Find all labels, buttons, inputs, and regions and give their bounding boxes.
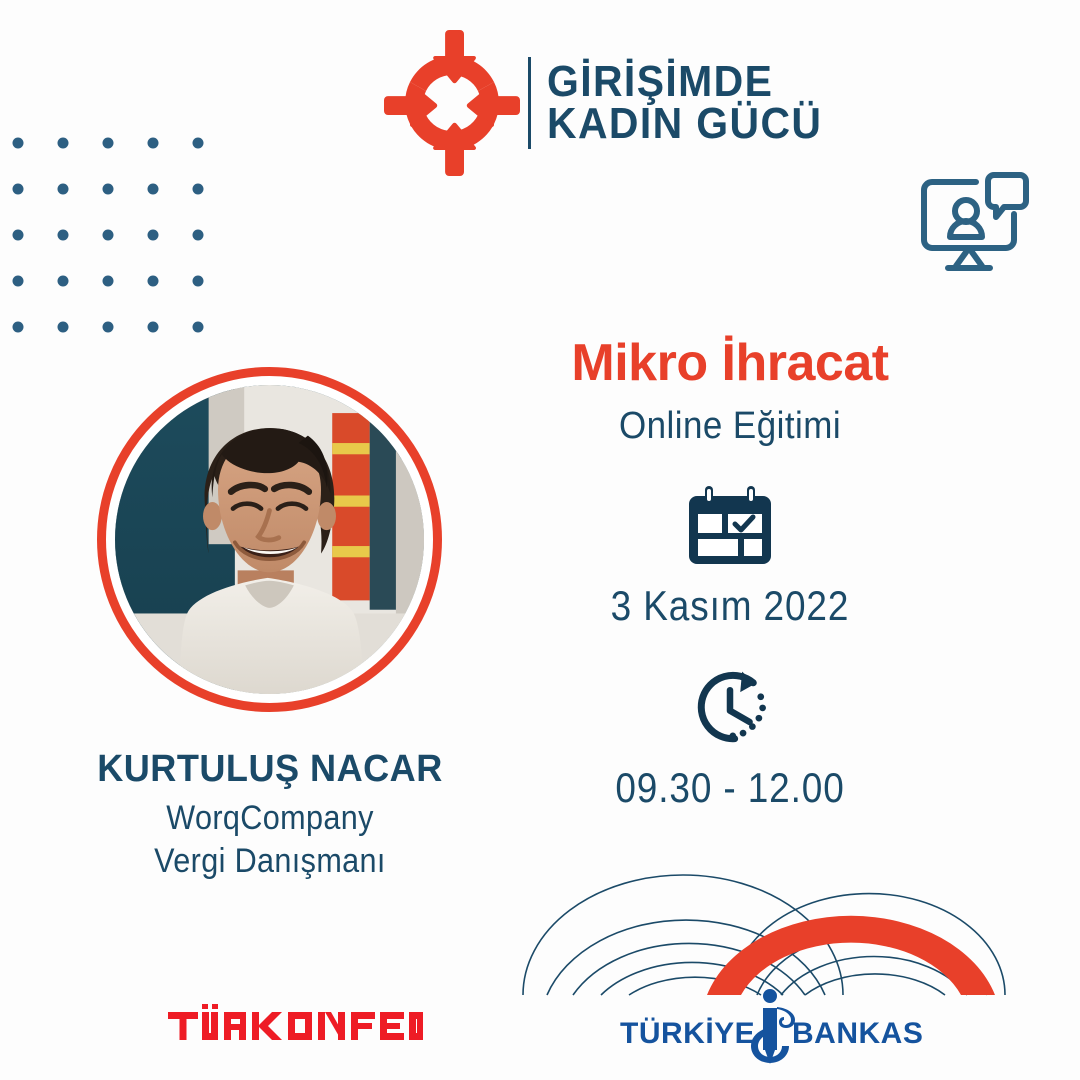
event-date: 3 Kasım 2022 [545, 582, 915, 630]
speaker-portrait-frame [97, 367, 442, 712]
event-poster: GİRİŞİMDE KADIN GÜCÜ [0, 0, 1080, 1080]
turkonfed-logo [168, 1004, 423, 1040]
event-date-row: 3 Kasım 2022 [520, 484, 940, 630]
event-title: Mikro İhracat [520, 336, 940, 391]
dot-grid-pattern-icon [8, 133, 223, 338]
clock-icon [685, 666, 775, 748]
event-time-row: 09.30 - 12.00 [520, 666, 940, 812]
isbank-wordmark-right: BANKASI [792, 1017, 925, 1050]
speaker-organization: WorqCompany [63, 797, 477, 840]
brand-logo: GİRİŞİMDE KADIN GÜCÜ [382, 28, 712, 178]
isbank-arc-decoration-icon [505, 862, 1080, 997]
speaker-name: KURTULUŞ NACAR [52, 748, 489, 791]
isbank-logo: TÜRKİYE BANKASI [620, 985, 925, 1067]
speaker-info: KURTULUŞ NACAR WorqCompany Vergi Danışma… [40, 748, 500, 883]
event-time: 09.30 - 12.00 [545, 764, 915, 812]
event-subtitle: Online Eğitimi [537, 405, 923, 448]
online-webinar-icon [910, 165, 1035, 285]
brand-line-1: GİRİŞİMDE [547, 61, 822, 103]
isbank-logo-icon: TÜRKİYE BANKASI [620, 985, 925, 1067]
calendar-check-icon [685, 484, 775, 566]
speaker-role: Vergi Danışmanı [63, 840, 477, 883]
brand-line-2: KADIN GÜCÜ [547, 103, 822, 145]
brand-wordmark: GİRİŞİMDE KADIN GÜCÜ [547, 61, 843, 145]
brand-divider [528, 57, 531, 149]
event-info: Mikro İhracat Online Eğitimi [520, 336, 940, 812]
isbank-wordmark-left: TÜRKİYE [620, 1017, 755, 1050]
four-arrows-circle-logo-icon [382, 28, 522, 178]
speaker-portrait-photo [115, 385, 424, 694]
